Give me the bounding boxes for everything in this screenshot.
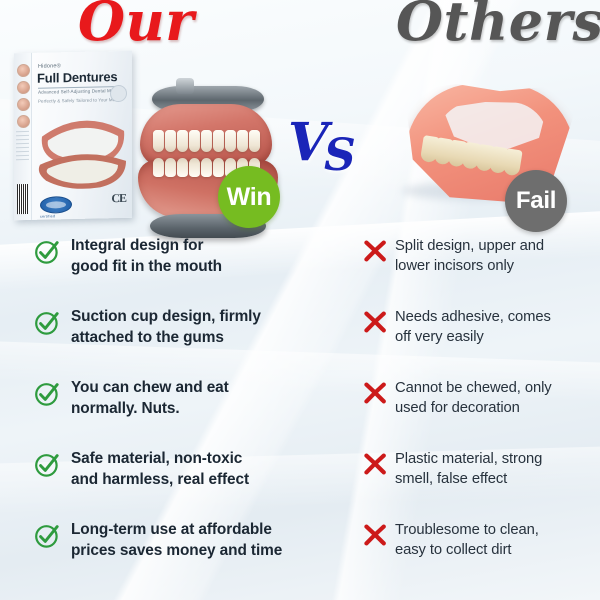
competitor-feature-list: Split design, upper andlower incisors on…: [363, 236, 598, 591]
articulator-hinge-icon: [176, 78, 194, 94]
cross-mark-icon: [363, 239, 387, 263]
box-brand-name: Hidone®: [38, 63, 61, 69]
feature-text: You can chew and eatnormally. Nuts.: [71, 378, 229, 419]
our-feature-row: Suction cup design, firmlyattached to th…: [34, 307, 304, 378]
check-circle-icon: [34, 523, 60, 549]
upper-teeth-row: [142, 130, 270, 152]
our-feature-list: Integral design forgood fit in the mouth…: [34, 236, 304, 591]
competitor-feature-row: Troublesome to clean,easy to collect dir…: [363, 520, 598, 591]
certification-label: certified: [40, 214, 55, 218]
comparison-infographic: Our Others Hidone® Full Dentures Advance…: [0, 0, 600, 600]
feature-text: Long-term use at affordableprices saves …: [71, 520, 282, 561]
cross-mark-icon: [363, 452, 387, 476]
cross-mark-icon: [363, 381, 387, 405]
competitor-feature-row: Plastic material, strongsmell, false eff…: [363, 449, 598, 520]
box-side-panel: [14, 53, 32, 220]
barcode-icon: [17, 184, 28, 214]
competitor-feature-row: Needs adhesive, comesoff very easily: [363, 307, 598, 378]
feature-text: Troublesome to clean,easy to collect dir…: [395, 520, 539, 560]
our-feature-row: You can chew and eatnormally. Nuts.: [34, 378, 304, 449]
check-circle-icon: [34, 310, 60, 336]
competitor-feature-row: Split design, upper andlower incisors on…: [363, 236, 598, 307]
box-thumbnail: [17, 81, 30, 94]
box-thumbnail: [17, 64, 30, 77]
check-circle-icon: [34, 381, 60, 407]
feature-comparison: Integral design forgood fit in the mouth…: [0, 236, 600, 600]
box-thumbnail-strip: [17, 64, 29, 132]
versus-s: S: [324, 130, 356, 181]
win-badge: Win: [218, 166, 280, 228]
cross-mark-icon: [363, 310, 387, 334]
feature-text: Integral design forgood fit in the mouth: [71, 236, 222, 277]
feature-text: Plastic material, strongsmell, false eff…: [395, 449, 542, 489]
header-ours: Our: [78, 0, 194, 53]
header-others: Others: [396, 0, 600, 53]
box-thumbnail: [17, 98, 30, 111]
box-side-text-lines: [16, 131, 29, 163]
our-feature-row: Safe material, non-toxicand harmless, re…: [34, 449, 304, 520]
feature-text: Safe material, non-toxicand harmless, re…: [71, 449, 249, 490]
competitor-feature-row: Cannot be chewed, onlyused for decoratio…: [363, 378, 598, 449]
feature-text: Suction cup design, firmlyattached to th…: [71, 307, 261, 348]
versus-graphic: V S: [288, 116, 368, 186]
our-feature-row: Integral design forgood fit in the mouth: [34, 236, 304, 307]
product-retail-box: Hidone® Full Dentures Advanced Self-Adju…: [14, 51, 132, 220]
check-circle-icon: [34, 239, 60, 265]
box-product-title: Full Dentures: [37, 69, 117, 86]
box-thumbnail: [17, 115, 30, 128]
check-circle-icon: [34, 452, 60, 478]
fail-badge: Fail: [505, 170, 567, 232]
our-feature-row: Long-term use at affordableprices saves …: [34, 520, 304, 591]
cross-mark-icon: [363, 523, 387, 547]
feature-text: Cannot be chewed, onlyused for decoratio…: [395, 378, 552, 418]
versus-v: V: [288, 112, 328, 173]
certification-logo-icon: [40, 196, 72, 214]
feature-text: Needs adhesive, comesoff very easily: [395, 307, 551, 347]
box-subtitle-secondary: Perfectly & Safely Tailored to Your Mout…: [38, 97, 122, 104]
feature-text: Split design, upper andlower incisors on…: [395, 236, 544, 276]
